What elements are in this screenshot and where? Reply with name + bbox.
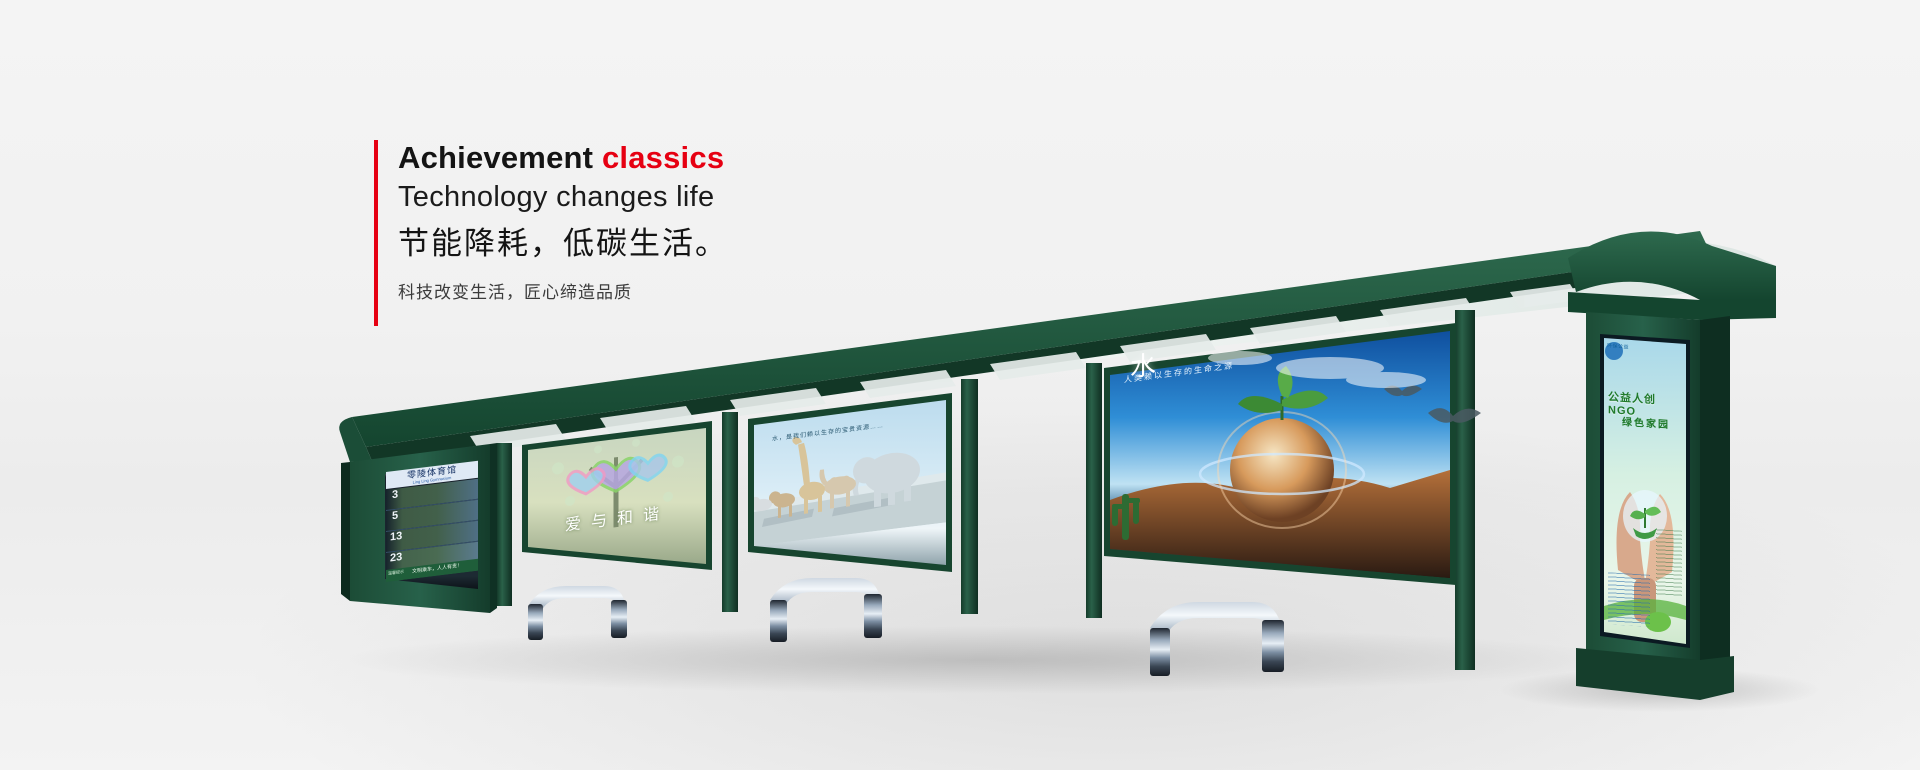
route-number: 5 [392, 510, 398, 523]
poster-ngo-content[interactable]: 环保公益 公益人创 NGO 绿色家园 [1604, 340, 1686, 641]
poster-ngo-logo: 环保公益 [1607, 342, 1629, 350]
route-number: 3 [392, 489, 398, 502]
banner-stage: Achievement classics Technology changes … [0, 0, 1920, 770]
route-board-footer-label: 温馨提示 [388, 569, 404, 577]
bus-shelter-render: 零陵体育馆 Ling Ling Gymnasium 3 5 13 23 温馨提示… [0, 0, 1920, 770]
route-row-list: 3 5 13 23 [386, 479, 478, 573]
route-board-content[interactable]: 零陵体育馆 Ling Ling Gymnasium 3 5 13 23 温馨提示… [386, 459, 478, 582]
roof-fascia [352, 231, 1710, 447]
poster-love-harmony-content[interactable]: 爱与和谐 [528, 406, 706, 548]
poster-ngo-side-text [1656, 529, 1682, 597]
route-number: 23 [390, 551, 402, 565]
route-number: 13 [390, 530, 402, 544]
poster-ngo-body-text [1608, 572, 1650, 627]
poster-water-source-content[interactable]: 水 人类赖以生存的生命之源 [1112, 288, 1448, 548]
poster-animals-water-content[interactable]: 水，是我们赖以生存的宝贵资源…… [754, 376, 946, 546]
drought-animals-graphic [754, 376, 946, 546]
poster-ngo-subhead: 绿色家园 [1622, 413, 1670, 431]
bench-1 [528, 586, 627, 640]
